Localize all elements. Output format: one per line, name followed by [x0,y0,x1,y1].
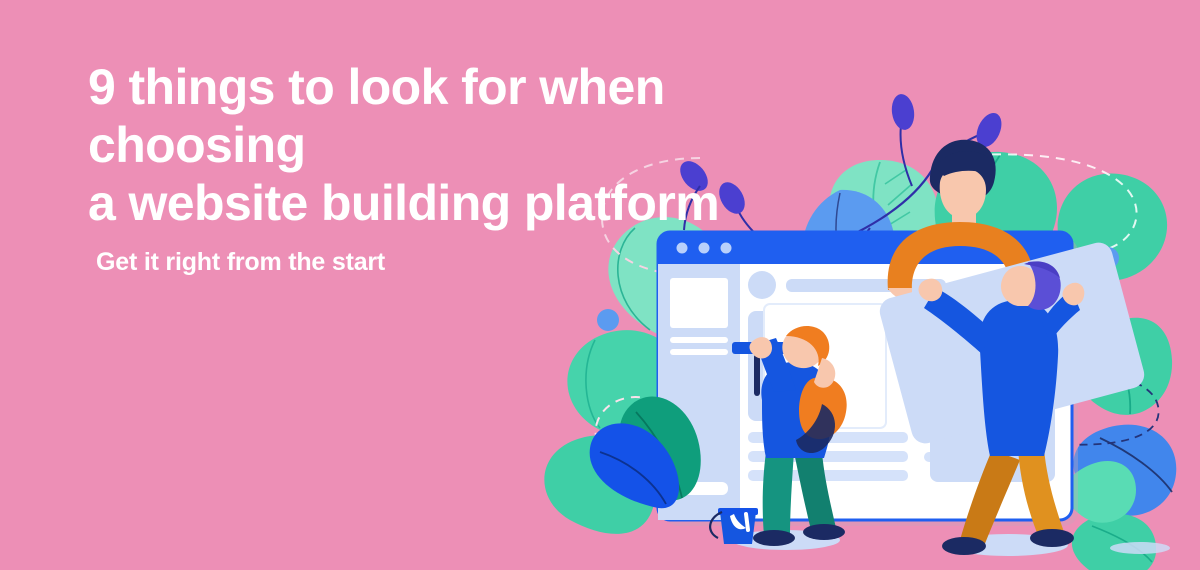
page-title: 9 things to look for when choosing a web… [88,58,848,232]
squeegee-handle [754,354,760,396]
text-block: 9 things to look for when choosing a web… [88,58,848,277]
promotional-banner: 9 things to look for when choosing a web… [0,0,1200,570]
decor-dot-left [597,309,619,331]
page-subtitle: Get it right from the start [96,248,848,277]
sidebar-card [670,278,728,328]
